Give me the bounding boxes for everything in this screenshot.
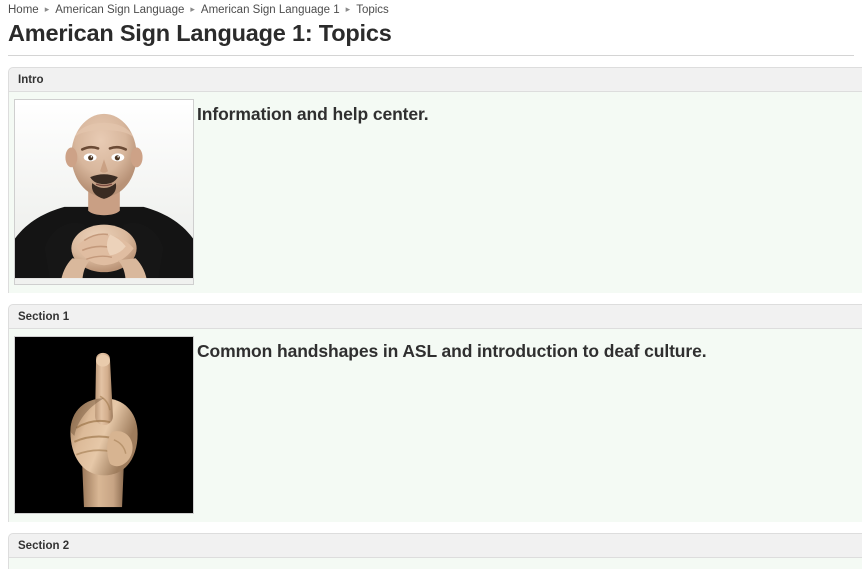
- topic-title-intro[interactable]: Information and help center.: [194, 99, 862, 125]
- breadcrumb-separator-icon: ▸: [190, 2, 195, 17]
- breadcrumb-item-american-sign-language[interactable]: American Sign Language: [55, 4, 184, 16]
- breadcrumb-item-topics: Topics: [356, 4, 389, 16]
- topics-page: Home▸American Sign Language▸American Sig…: [0, 0, 862, 569]
- section-body-intro: Information and help center.: [8, 92, 862, 293]
- topic-title-section-1[interactable]: Common handshapes in ASL and introductio…: [194, 336, 862, 362]
- topic-thumbnail-intro[interactable]: [14, 99, 194, 285]
- topic-section: Intro: [0, 67, 862, 293]
- breadcrumb: Home▸American Sign Language▸American Sig…: [0, 0, 862, 19]
- asl-handshape-image: [15, 337, 193, 513]
- topic-thumbnail-section-1[interactable]: [14, 336, 194, 514]
- section-header-intro: Intro: [8, 67, 862, 92]
- section-body-section-1: Common handshapes in ASL and introductio…: [8, 329, 862, 522]
- topic-section: Section 1: [0, 304, 862, 522]
- signing-man-image: [15, 100, 193, 284]
- section-body-section-2: [8, 558, 862, 569]
- section-header-section-2: Section 2: [8, 533, 862, 558]
- section-header-section-1: Section 1: [8, 304, 862, 329]
- topic-sections-list: Intro: [0, 67, 862, 569]
- page-title: American Sign Language 1: Topics: [0, 19, 862, 48]
- breadcrumb-item-home[interactable]: Home: [8, 4, 39, 16]
- title-divider: [8, 55, 854, 56]
- breadcrumb-separator-icon: ▸: [45, 2, 50, 17]
- topic-section: Section 2: [0, 533, 862, 569]
- breadcrumb-item-american-sign-language-1[interactable]: American Sign Language 1: [201, 4, 340, 16]
- breadcrumb-separator-icon: ▸: [346, 2, 351, 17]
